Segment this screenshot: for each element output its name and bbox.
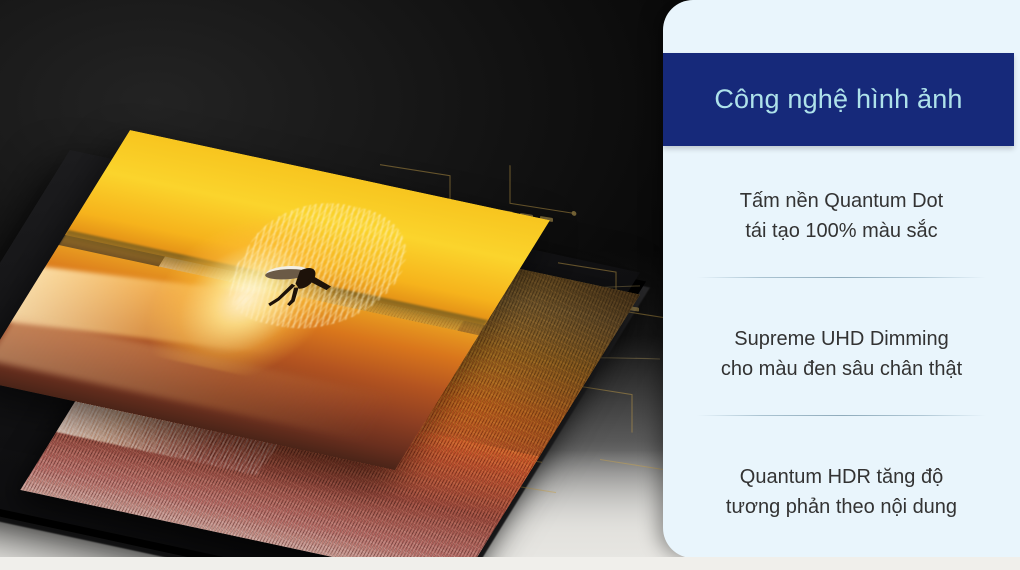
feature-card: Công nghệ hình ảnh Tấm nền Quantum Dot t… — [663, 0, 1020, 558]
feature-item-2: Supreme UHD Dimming cho màu đen sâu chân… — [681, 278, 1002, 384]
feature-2-line-1: Supreme UHD Dimming — [681, 324, 1002, 354]
page-title: Công nghệ hình ảnh — [714, 84, 962, 115]
feature-1-line-1: Tấm nền Quantum Dot — [681, 186, 1002, 216]
promo-banner: Công nghệ hình ảnh Tấm nền Quantum Dot t… — [0, 0, 1020, 570]
feature-3-line-2: tương phản theo nội dung — [681, 492, 1002, 522]
feature-item-1: Tấm nền Quantum Dot tái tạo 100% màu sắc — [681, 146, 1002, 246]
feature-3-line-1: Quantum HDR tăng độ — [681, 462, 1002, 492]
feature-list: Tấm nền Quantum Dot tái tạo 100% màu sắc… — [663, 146, 1020, 522]
hero-image — [0, 0, 700, 570]
bottom-strip — [0, 557, 1020, 570]
feature-2-line-2: cho màu đen sâu chân thật — [681, 354, 1002, 384]
feature-item-3: Quantum HDR tăng độ tương phản theo nội … — [681, 416, 1002, 522]
card-header: Công nghệ hình ảnh — [663, 53, 1014, 146]
feature-1-line-2: tái tạo 100% màu sắc — [681, 216, 1002, 246]
